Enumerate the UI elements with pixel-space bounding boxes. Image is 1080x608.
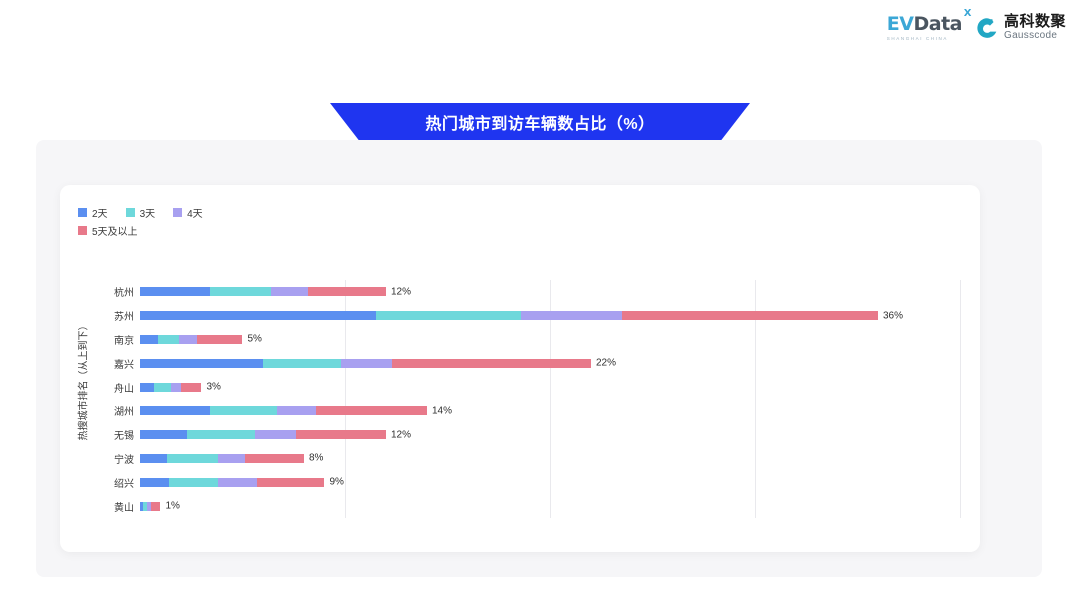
bar-row[interactable]: 36% — [140, 304, 960, 328]
y-axis-label: 宁波 — [96, 447, 134, 471]
header-logos: EVData X SHANGHAI CHINA 高科数聚 Gausscode — [887, 14, 1066, 41]
bar-segment-2[interactable] — [341, 359, 392, 368]
bar-value-label: 3% — [207, 382, 221, 393]
gausscode-name-en: Gausscode — [1004, 31, 1066, 41]
stacked-bar[interactable]: 1% — [140, 502, 161, 511]
bar-segment-3[interactable] — [316, 406, 427, 415]
stacked-bar[interactable]: 12% — [140, 430, 386, 439]
bar-value-label: 8% — [309, 453, 323, 464]
y-axis-label: 无锡 — [96, 423, 134, 447]
evdata-wordmark: EVData X — [887, 15, 962, 34]
plot-container: 杭州苏州南京嘉兴舟山湖州无锡宁波绍兴黄山 12%36%5%22%3%14%12%… — [96, 280, 980, 518]
bar-value-label: 36% — [883, 310, 903, 321]
bar-segment-1[interactable] — [263, 359, 341, 368]
gausscode-text: 高科数聚 Gausscode — [1004, 14, 1066, 41]
y-axis-title-text: 热搜城市排名（从上到下） — [75, 320, 90, 440]
bar-segment-0[interactable] — [140, 311, 376, 320]
bar-segment-2[interactable] — [255, 430, 296, 439]
stacked-bar[interactable]: 9% — [140, 478, 325, 487]
bar-segment-3[interactable] — [622, 311, 878, 320]
stacked-bar[interactable]: 22% — [140, 359, 591, 368]
y-axis-label: 舟山 — [96, 375, 134, 399]
stacked-bar[interactable]: 36% — [140, 311, 878, 320]
y-axis-title: 热搜城市排名（从上到下） — [74, 295, 90, 465]
bar-value-label: 22% — [596, 358, 616, 369]
bar-row[interactable]: 5% — [140, 328, 960, 352]
bar-segment-3[interactable] — [296, 430, 386, 439]
bar-segment-3[interactable] — [181, 383, 202, 392]
bar-row[interactable]: 12% — [140, 280, 960, 304]
bar-segment-0[interactable] — [140, 430, 187, 439]
bar-value-label: 12% — [391, 429, 411, 440]
bar-row[interactable]: 3% — [140, 375, 960, 399]
gausscode-name-cn: 高科数聚 — [1004, 14, 1066, 29]
bar-segment-1[interactable] — [169, 478, 218, 487]
bar-segment-0[interactable] — [140, 478, 169, 487]
stacked-bar[interactable]: 3% — [140, 383, 202, 392]
bar-row[interactable]: 9% — [140, 470, 960, 494]
bar-row[interactable]: 22% — [140, 351, 960, 375]
stacked-bar[interactable]: 14% — [140, 406, 427, 415]
bar-row[interactable]: 1% — [140, 494, 960, 518]
bar-row[interactable]: 12% — [140, 423, 960, 447]
bar-segment-2[interactable] — [277, 406, 316, 415]
title-banner: 热门城市到访车辆数占比（%） — [330, 103, 750, 141]
y-axis-label: 杭州 — [96, 280, 134, 304]
evdata-wordmark-ev: EV — [887, 13, 914, 35]
bar-segment-0[interactable] — [140, 359, 263, 368]
bar-segment-1[interactable] — [154, 383, 170, 392]
bar-value-label: 5% — [248, 334, 262, 345]
gausscode-logo: 高科数聚 Gausscode — [976, 14, 1066, 41]
y-axis-label: 黄山 — [96, 494, 134, 518]
y-axis-label: 南京 — [96, 328, 134, 352]
evdata-subtitle: SHANGHAI CHINA — [887, 36, 948, 41]
bar-segment-2[interactable] — [218, 454, 245, 463]
stacked-bar[interactable]: 8% — [140, 454, 304, 463]
bar-row[interactable]: 14% — [140, 399, 960, 423]
bar-segment-3[interactable] — [245, 454, 304, 463]
slide-page: EVData X SHANGHAI CHINA 高科数聚 Gausscode 热… — [0, 0, 1080, 608]
bar-value-label: 14% — [432, 405, 452, 416]
bar-segment-1[interactable] — [187, 430, 255, 439]
bar-value-label: 1% — [166, 501, 180, 512]
gridline-3 — [960, 280, 961, 518]
y-axis-label: 苏州 — [96, 304, 134, 328]
bar-value-label: 9% — [330, 477, 344, 488]
bar-segment-1[interactable] — [210, 406, 278, 415]
bar-segment-1[interactable] — [167, 454, 218, 463]
bar-value-label: 12% — [391, 286, 411, 297]
y-axis-label: 湖州 — [96, 399, 134, 423]
bar-segment-2[interactable] — [521, 311, 621, 320]
plot-area: 12%36%5%22%3%14%12%8%9%1% — [140, 280, 960, 518]
bar-segment-3[interactable] — [257, 478, 325, 487]
bar-row[interactable]: 8% — [140, 447, 960, 471]
y-axis-label: 嘉兴 — [96, 351, 134, 375]
bar-segment-0[interactable] — [140, 287, 210, 296]
bar-segment-0[interactable] — [140, 406, 210, 415]
stacked-bar[interactable]: 12% — [140, 287, 386, 296]
bar-segment-2[interactable] — [218, 478, 257, 487]
evdata-wordmark-data: Data — [913, 13, 962, 35]
bar-segment-3[interactable] — [392, 359, 591, 368]
bar-segment-1[interactable] — [158, 335, 179, 344]
bar-segment-0[interactable] — [140, 383, 154, 392]
bar-segment-2[interactable] — [179, 335, 197, 344]
evdata-logo: EVData X SHANGHAI CHINA — [887, 15, 962, 41]
y-axis-label: 绍兴 — [96, 470, 134, 494]
bar-segment-2[interactable] — [171, 383, 181, 392]
bar-segment-0[interactable] — [140, 335, 158, 344]
evdata-superscript: X — [964, 9, 971, 19]
bar-segment-1[interactable] — [210, 287, 272, 296]
bar-segment-3[interactable] — [197, 335, 242, 344]
bar-segment-3[interactable] — [308, 287, 386, 296]
gausscode-mark-icon — [976, 17, 998, 39]
bar-segment-1[interactable] — [376, 311, 522, 320]
chart-card: 2天3天4天5天及以上 热搜城市排名（从上到下） 杭州苏州南京嘉兴舟山湖州无锡宁… — [60, 185, 980, 552]
stacked-bar-chart: 热搜城市排名（从上到下） 杭州苏州南京嘉兴舟山湖州无锡宁波绍兴黄山 12%36%… — [60, 185, 980, 552]
stacked-bar[interactable]: 5% — [140, 335, 243, 344]
bar-segment-0[interactable] — [140, 454, 167, 463]
y-axis-labels: 杭州苏州南京嘉兴舟山湖州无锡宁波绍兴黄山 — [96, 280, 134, 518]
bar-segment-2[interactable] — [271, 287, 308, 296]
bar-segment-3[interactable] — [151, 502, 160, 511]
page-title: 热门城市到访车辆数占比（%） — [425, 110, 654, 134]
